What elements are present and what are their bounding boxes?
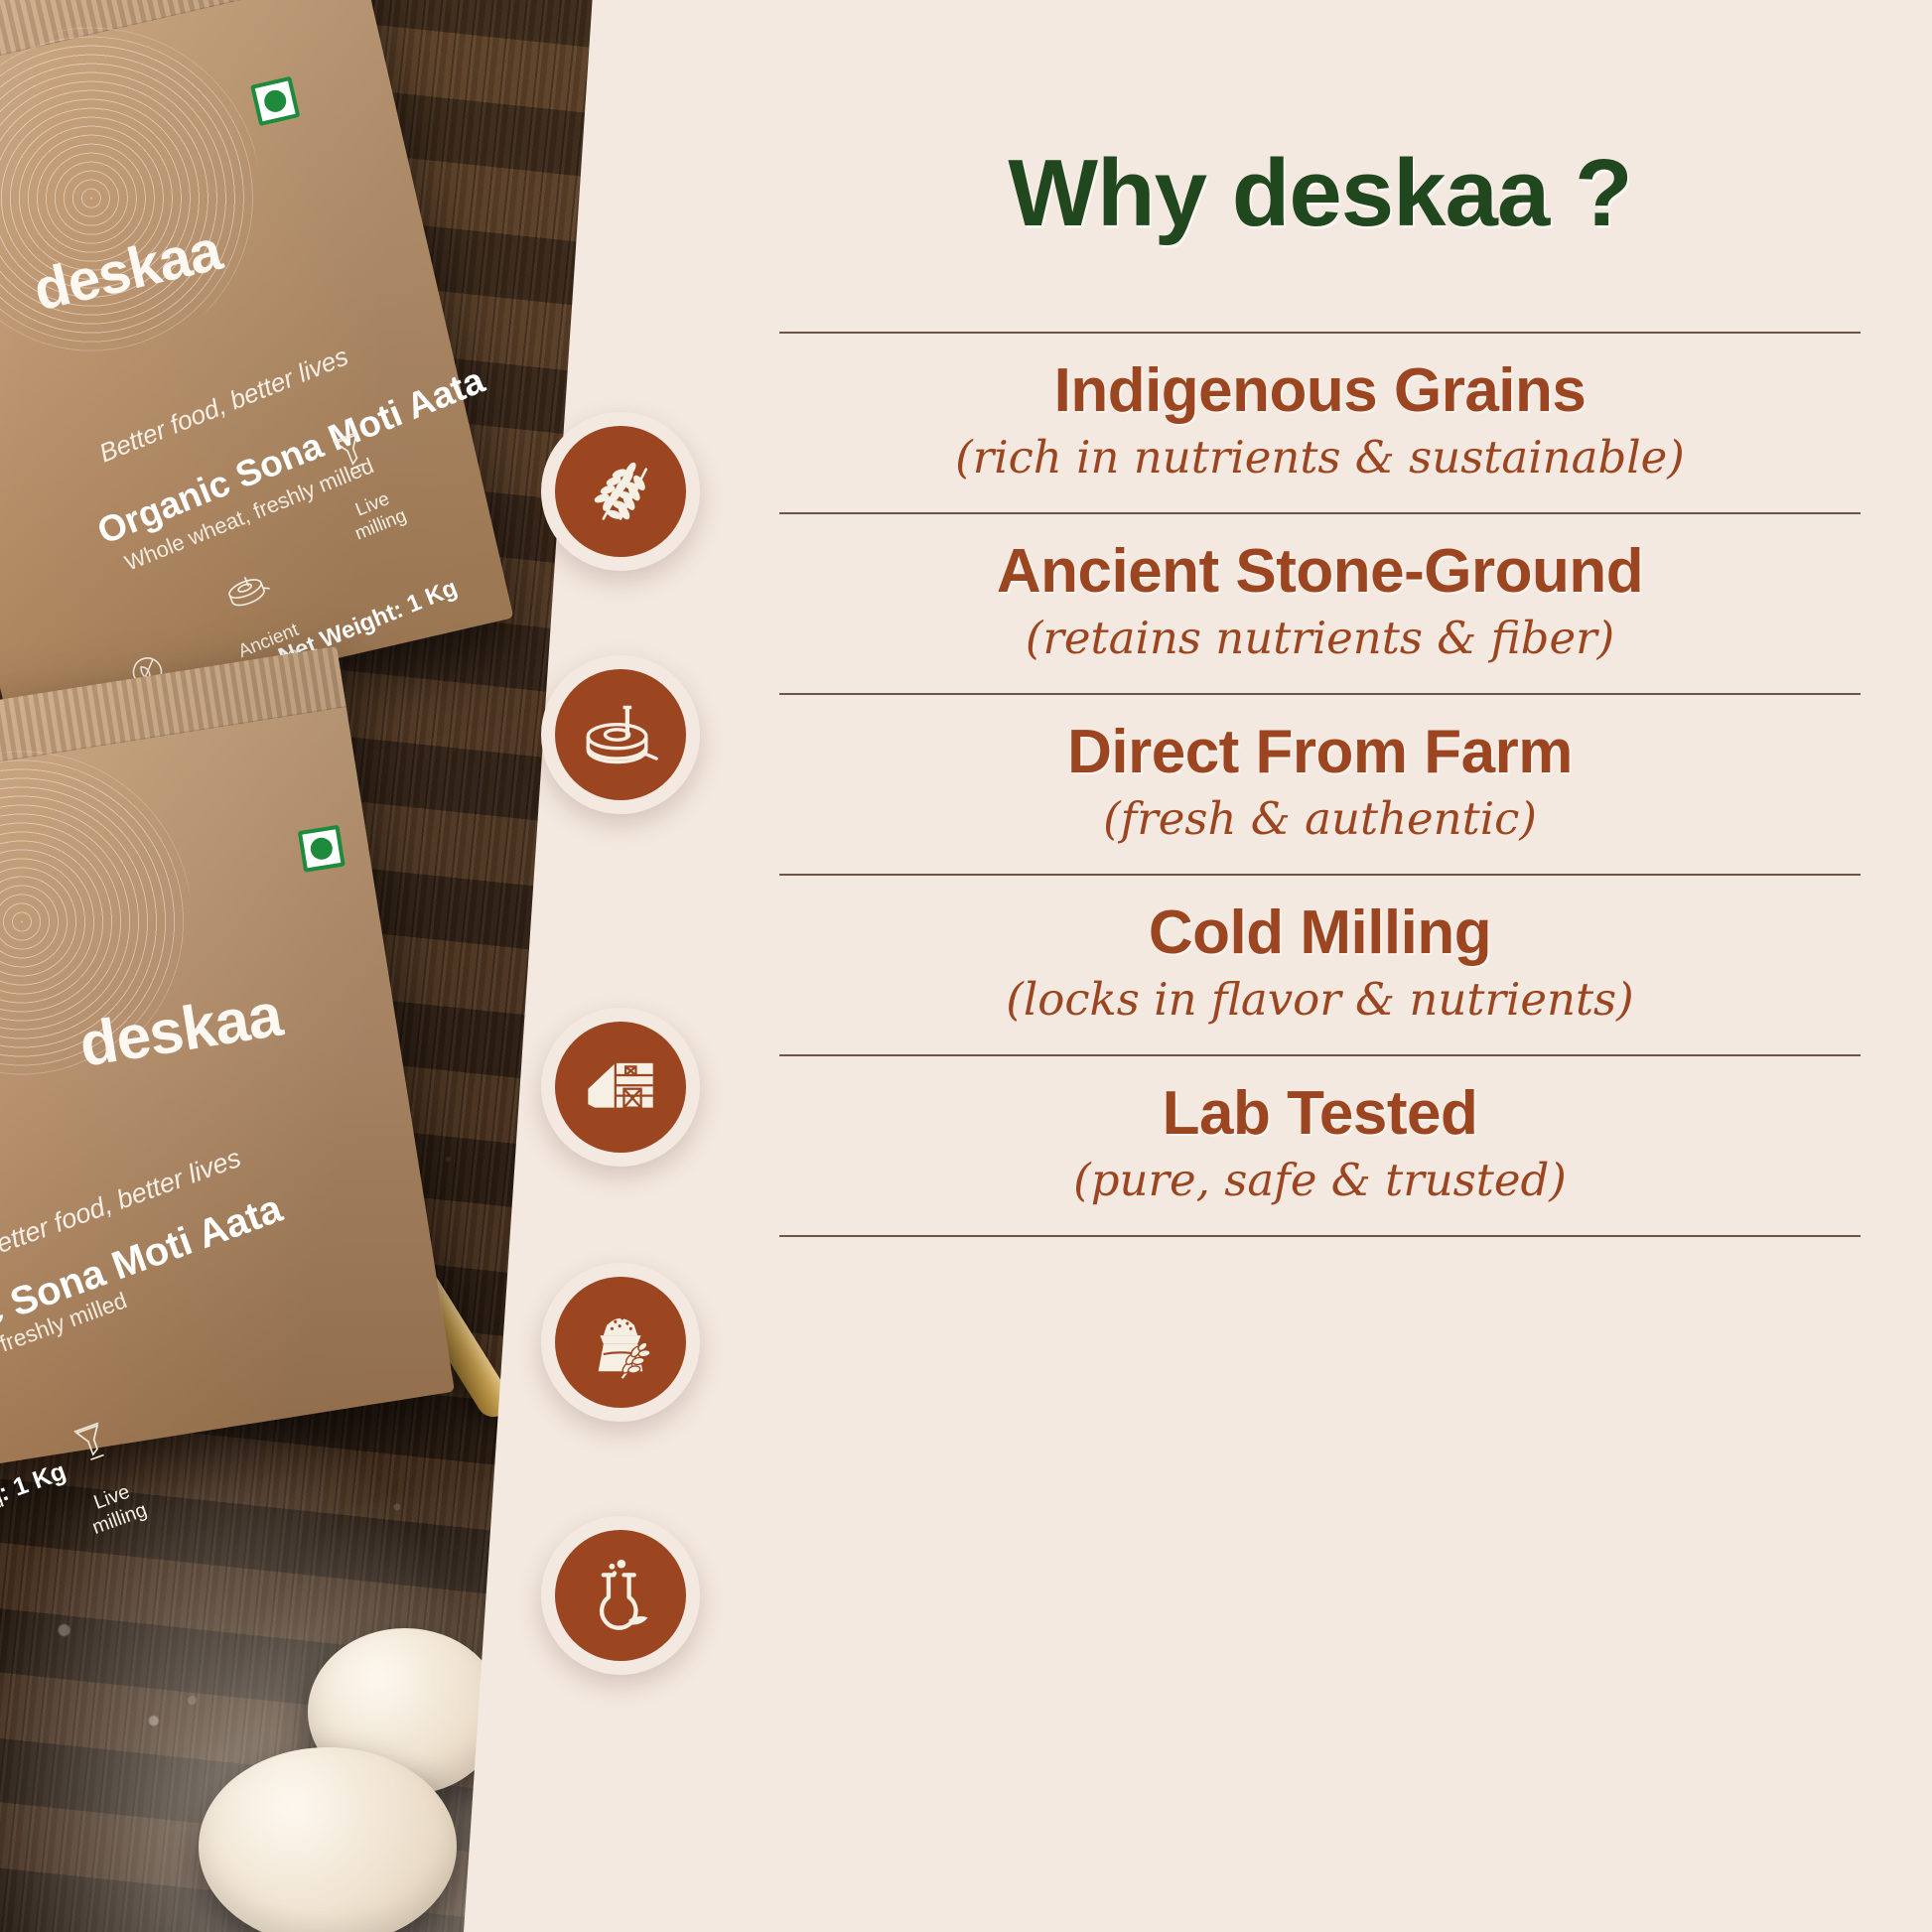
flour-sack-icon — [578, 1300, 663, 1385]
feature-subtitle: (retains nutrients & fiber) — [779, 614, 1861, 663]
feature-row: Indigenous Grains (rich in nutrients & s… — [779, 332, 1861, 512]
feature-row: Direct From Farm (fresh & authentic) — [779, 693, 1861, 874]
feature-title: Lab Tested — [779, 1082, 1861, 1146]
feature-title: Indigenous Grains — [779, 359, 1861, 423]
lab-flask-icon — [578, 1553, 663, 1638]
vegetarian-mark-icon — [250, 76, 300, 126]
wheat-icon — [578, 449, 663, 534]
feature-subtitle: (rich in nutrients & sustainable) — [779, 433, 1861, 483]
feature-subtitle: (pure, safe & trusted) — [779, 1156, 1861, 1205]
feature-row: Cold Milling (locks in flavor & nutrient… — [779, 874, 1861, 1054]
feature-icon-circle — [555, 669, 686, 800]
feature-icon-badge-4 — [541, 1263, 700, 1422]
feature-icon-badge-3 — [541, 1008, 700, 1167]
infographic-page: deskaa Better food, better lives Organic… — [0, 0, 1932, 1932]
feature-subtitle: (locks in flavor & nutrients) — [779, 975, 1861, 1025]
feature-icon-circle — [555, 1530, 686, 1661]
feature-row: Lab Tested (pure, safe & trusted) — [779, 1054, 1861, 1237]
feature-title: Ancient Stone-Ground — [779, 540, 1861, 604]
feature-icon-circle — [555, 426, 686, 557]
vegetarian-mark-icon — [298, 825, 345, 873]
barn-icon — [578, 1044, 663, 1130]
feature-subtitle: (fresh & authentic) — [779, 794, 1861, 844]
dough-ball — [199, 1747, 457, 1932]
features-panel: Why deskaa ? Indigenous Grains (rich in … — [640, 0, 1932, 1932]
product-photo-panel: deskaa Better food, better lives Organic… — [0, 0, 640, 1932]
stone-mill-icon — [221, 567, 275, 615]
feature-row: Ancient Stone-Ground (retains nutrients … — [779, 512, 1861, 693]
feature-icon-badge-1 — [541, 412, 700, 571]
feature-icon-badge-2 — [541, 655, 700, 814]
stone-mill-icon — [578, 692, 663, 777]
feature-title: Cold Milling — [779, 901, 1861, 965]
live-milling-icon — [69, 1420, 115, 1467]
feature-list: Indigenous Grains (rich in nutrients & s… — [779, 332, 1861, 1237]
pack-badge-label: Live milling — [351, 488, 409, 544]
feature-title: Direct From Farm — [779, 721, 1861, 784]
live-milling-icon — [328, 428, 375, 477]
feature-icon-badge-5 — [541, 1516, 700, 1675]
feature-icon-circle — [555, 1022, 686, 1153]
feature-icon-circle — [555, 1277, 686, 1408]
page-title: Why deskaa ? — [779, 139, 1861, 248]
pack-ring-pattern — [0, 0, 292, 387]
